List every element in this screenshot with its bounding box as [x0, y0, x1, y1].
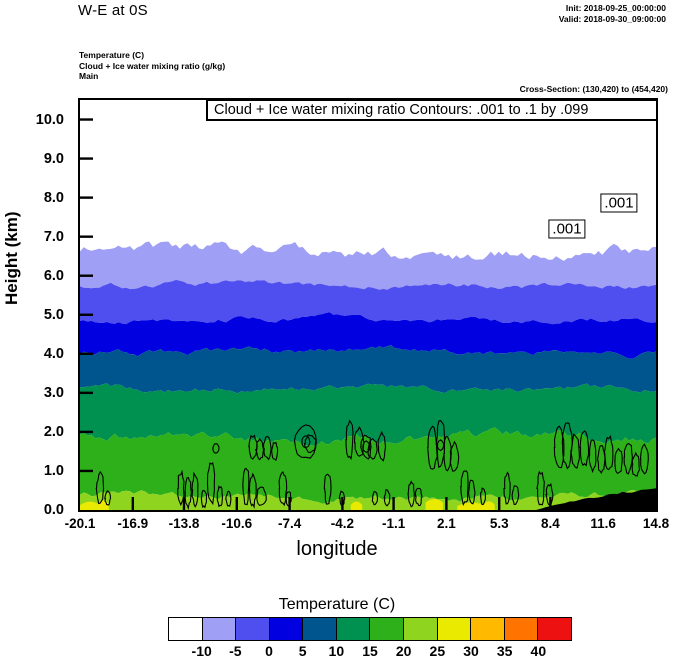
x-tick-label: -13.8	[169, 516, 200, 531]
x-axis-title: longitude	[0, 538, 674, 561]
y-tick-label: 9.0	[44, 151, 64, 167]
colorbar-swatch	[270, 618, 304, 640]
colorbar-swatch	[538, 618, 571, 640]
page-title: W-E at 0S	[78, 2, 148, 19]
colorbar-tick-label: 20	[396, 643, 412, 659]
colorbar-swatch	[303, 618, 337, 640]
y-tick-label: 3.0	[44, 385, 64, 401]
colorbar-swatch	[505, 618, 539, 640]
contour-label: .001	[548, 220, 585, 239]
colorbar-swatch	[370, 618, 404, 640]
y-axis-title: Height (km)	[2, 212, 22, 306]
variable-mixing-ratio-label: Cloud + Ice water mixing ratio (g/kg)	[79, 61, 225, 72]
y-axis-tick-labels: 0.01.02.03.04.05.06.07.08.09.010.0	[0, 98, 70, 512]
colorbar-swatch	[236, 618, 270, 640]
colorbar-swatch	[203, 618, 237, 640]
x-tick-label: -1.1	[382, 516, 405, 531]
variable-temperature-label: Temperature (C)	[79, 50, 225, 61]
variable-legend-block: Temperature (C) Cloud + Ice water mixing…	[79, 50, 225, 82]
valid-time: Valid: 2018-09-30_09:00:00	[559, 14, 666, 25]
cross-section-plot: .001.001	[78, 98, 658, 512]
x-axis-tick-labels: -20.1-16.9-13.8-10.6-7.4-4.2-1.12.15.38.…	[0, 516, 674, 536]
colorbar-tick-label: -5	[229, 643, 241, 659]
colorbar-tick-label: -10	[192, 643, 212, 659]
colorbar-swatch	[169, 618, 203, 640]
x-tick-label: 5.3	[490, 516, 509, 531]
colorbar-tick-label: 5	[299, 643, 307, 659]
y-tick-label: 2.0	[44, 424, 64, 440]
contour-value-labels: .001.001	[80, 100, 656, 510]
colorbar-tick-labels: -10-50510152025303540	[168, 643, 572, 663]
y-tick-label: 6.0	[44, 268, 64, 284]
colorbar-tick-label: 0	[265, 643, 273, 659]
x-tick-label: -16.9	[117, 516, 148, 531]
contour-label: .001	[600, 194, 637, 213]
colorbar-tick-label: 10	[329, 643, 345, 659]
domain-label: Main	[79, 71, 225, 82]
y-tick-label: 4.0	[44, 346, 64, 362]
x-tick-label: -10.6	[221, 516, 252, 531]
x-tick-label: 14.8	[643, 516, 669, 531]
y-tick-label: 10.0	[36, 112, 64, 128]
colorbar-swatch	[438, 618, 472, 640]
cross-section-endpoints: Cross-Section: (130,420) to (454,420)	[520, 84, 668, 94]
x-tick-label: -4.2	[331, 516, 354, 531]
colorbar-tick-label: 15	[362, 643, 378, 659]
colorbar-tick-label: 35	[497, 643, 513, 659]
contour-info-banner: Cloud + Ice water mixing ratio Contours:…	[206, 99, 658, 121]
x-tick-label: 2.1	[437, 516, 456, 531]
x-tick-label: 11.6	[590, 516, 616, 531]
y-tick-label: 8.0	[44, 190, 64, 206]
x-tick-label: -20.1	[65, 516, 96, 531]
colorbar-tick-label: 40	[531, 643, 547, 659]
y-tick-label: 7.0	[44, 229, 64, 245]
y-tick-label: 1.0	[44, 463, 64, 479]
colorbar-swatch	[471, 618, 505, 640]
init-time: Init: 2018-09-25_00:00:00	[559, 3, 666, 14]
colorbar-swatch	[337, 618, 371, 640]
x-tick-label: 8.4	[541, 516, 560, 531]
colorbar-tick-label: 25	[430, 643, 446, 659]
x-tick-label: -7.4	[278, 516, 301, 531]
y-tick-label: 5.0	[44, 307, 64, 323]
colorbar-title: Temperature (C)	[0, 596, 674, 614]
colorbar-tick-label: 30	[463, 643, 479, 659]
colorbar-swatch	[404, 618, 438, 640]
run-time-block: Init: 2018-09-25_00:00:00 Valid: 2018-09…	[559, 3, 666, 25]
temperature-colorbar	[168, 617, 572, 641]
